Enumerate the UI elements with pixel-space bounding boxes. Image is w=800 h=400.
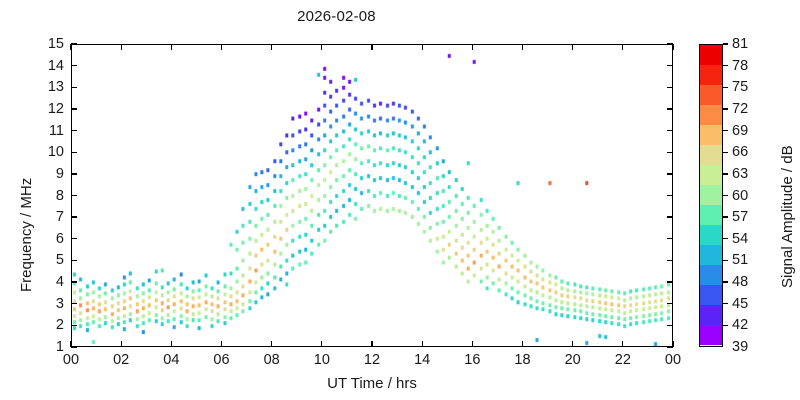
colorbar-tick-label: 81 <box>732 36 748 52</box>
y-tick-label: 5 <box>34 252 64 268</box>
colorbar-band <box>700 225 722 245</box>
y-tick-3-right <box>667 303 673 304</box>
scatter-canvas <box>72 45 672 346</box>
colorbar-tick-label: 42 <box>732 317 748 333</box>
colorbar-tick-label: 63 <box>732 166 748 182</box>
y-tick-15-left <box>71 43 77 44</box>
colorbar-band <box>700 125 722 145</box>
x-tick-08-top <box>271 44 272 50</box>
colorbar-band <box>700 305 722 325</box>
y-tick-13-right <box>667 87 673 88</box>
ionogram-figure: 2026-02-08 00020406081012141618202200123… <box>0 0 800 400</box>
colorbar-band <box>700 105 722 125</box>
x-tick-label: 18 <box>503 352 543 368</box>
colorbar-band <box>700 85 722 105</box>
colorbar-tick <box>723 43 728 44</box>
x-tick-10-bottom <box>321 341 322 347</box>
colorbar-tick <box>723 130 728 131</box>
y-tick-label: 7 <box>34 209 64 225</box>
colorbar-tick-label: 54 <box>732 231 748 247</box>
y-tick-8-left <box>71 195 77 196</box>
y-tick-5-right <box>667 260 673 261</box>
y-axis-title: Frequency / MHz <box>18 178 35 292</box>
colorbar-band <box>700 325 722 345</box>
colorbar-tick-label: 39 <box>732 339 748 355</box>
x-axis-title: UT Time / hrs <box>71 375 673 392</box>
colorbar <box>699 44 723 347</box>
y-tick-label: 11 <box>34 123 64 139</box>
y-tick-1-right <box>667 346 673 347</box>
colorbar-tick-label: 60 <box>732 188 748 204</box>
y-tick-13-left <box>71 87 77 88</box>
y-tick-11-left <box>71 130 77 131</box>
colorbar-tick-label: 48 <box>732 274 748 290</box>
chart-title: 2026-02-08 <box>0 8 673 25</box>
y-tick-9-right <box>667 173 673 174</box>
y-tick-2-left <box>71 325 77 326</box>
colorbar-tick-label: 57 <box>732 209 748 225</box>
colorbar-tick-label: 72 <box>732 101 748 117</box>
x-tick-18-bottom <box>522 341 523 347</box>
y-tick-8-right <box>667 195 673 196</box>
colorbar-tick-label: 66 <box>732 144 748 160</box>
x-tick-14-top <box>422 44 423 50</box>
x-tick-label: 22 <box>603 352 643 368</box>
y-tick-4-left <box>71 281 77 282</box>
x-tick-label: 06 <box>202 352 242 368</box>
colorbar-tick <box>723 195 728 196</box>
colorbar-tick <box>723 281 728 282</box>
colorbar-tick <box>723 87 728 88</box>
y-tick-15-right <box>667 43 673 44</box>
colorbar-band <box>700 45 722 65</box>
y-tick-label: 4 <box>34 274 64 290</box>
x-tick-label: 04 <box>151 352 191 368</box>
x-tick-02-top <box>121 44 122 50</box>
colorbar-tick <box>723 108 728 109</box>
colorbar-tick-label: 75 <box>732 79 748 95</box>
x-tick-04-bottom <box>171 341 172 347</box>
x-tick-label: 16 <box>452 352 492 368</box>
y-tick-label: 3 <box>34 296 64 312</box>
x-tick-16-bottom <box>472 341 473 347</box>
colorbar-band <box>700 265 722 285</box>
x-tick-00-top <box>70 44 71 50</box>
colorbar-tick <box>723 152 728 153</box>
y-tick-6-left <box>71 238 77 239</box>
y-tick-label: 1 <box>34 339 64 355</box>
x-tick-label: 14 <box>402 352 442 368</box>
colorbar-band <box>700 245 722 265</box>
y-tick-label: 15 <box>34 36 64 52</box>
x-tick-10-top <box>321 44 322 50</box>
x-tick-label: 12 <box>352 352 392 368</box>
y-tick-10-left <box>71 152 77 153</box>
colorbar-tick-label: 69 <box>732 123 748 139</box>
y-tick-label: 14 <box>34 58 64 74</box>
y-tick-2-right <box>667 325 673 326</box>
y-tick-12-right <box>667 108 673 109</box>
y-tick-label: 10 <box>34 144 64 160</box>
y-tick-1-left <box>71 346 77 347</box>
colorbar-tick <box>723 173 728 174</box>
x-tick-label: 08 <box>252 352 292 368</box>
y-tick-14-left <box>71 65 77 66</box>
y-tick-7-left <box>71 216 77 217</box>
x-tick-06-bottom <box>221 341 222 347</box>
colorbar-tick <box>723 65 728 66</box>
y-tick-7-right <box>667 216 673 217</box>
y-tick-label: 6 <box>34 231 64 247</box>
x-tick-08-bottom <box>271 341 272 347</box>
colorbar-tick-label: 45 <box>732 296 748 312</box>
x-tick-20-bottom <box>572 341 573 347</box>
x-tick-06-top <box>221 44 222 50</box>
x-tick-label: 10 <box>302 352 342 368</box>
colorbar-tick <box>723 303 728 304</box>
colorbar-tick-label: 51 <box>732 252 748 268</box>
y-tick-12-left <box>71 108 77 109</box>
x-tick-14-bottom <box>422 341 423 347</box>
y-tick-label: 9 <box>34 166 64 182</box>
colorbar-band <box>700 145 722 165</box>
x-tick-22-bottom <box>622 341 623 347</box>
x-tick-04-top <box>171 44 172 50</box>
y-tick-6-right <box>667 238 673 239</box>
plot-area <box>71 44 673 347</box>
y-tick-3-left <box>71 303 77 304</box>
x-tick-20-top <box>572 44 573 50</box>
x-tick-label: 20 <box>553 352 593 368</box>
y-tick-label: 8 <box>34 188 64 204</box>
y-tick-label: 2 <box>34 317 64 333</box>
colorbar-tick <box>723 325 728 326</box>
y-tick-11-right <box>667 130 673 131</box>
x-tick-12-bottom <box>371 341 372 347</box>
colorbar-tick <box>723 216 728 217</box>
y-tick-14-right <box>667 65 673 66</box>
colorbar-band <box>700 185 722 205</box>
x-tick-16-top <box>472 44 473 50</box>
colorbar-band <box>700 65 722 85</box>
x-tick-00-top <box>672 44 673 50</box>
y-tick-10-right <box>667 152 673 153</box>
colorbar-tick <box>723 260 728 261</box>
y-tick-4-right <box>667 281 673 282</box>
y-tick-9-left <box>71 173 77 174</box>
colorbar-title: Signal Amplitude / dB <box>779 145 796 288</box>
colorbar-band <box>700 285 722 305</box>
colorbar-tick <box>723 238 728 239</box>
colorbar-band <box>700 205 722 225</box>
x-tick-label: 02 <box>101 352 141 368</box>
x-tick-12-top <box>371 44 372 50</box>
colorbar-band <box>700 165 722 185</box>
x-tick-22-top <box>622 44 623 50</box>
colorbar-tick-label: 78 <box>732 58 748 74</box>
y-tick-label: 12 <box>34 101 64 117</box>
y-tick-label: 13 <box>34 79 64 95</box>
x-tick-label: 00 <box>653 352 693 368</box>
x-tick-02-bottom <box>121 341 122 347</box>
x-tick-18-top <box>522 44 523 50</box>
y-tick-5-left <box>71 260 77 261</box>
